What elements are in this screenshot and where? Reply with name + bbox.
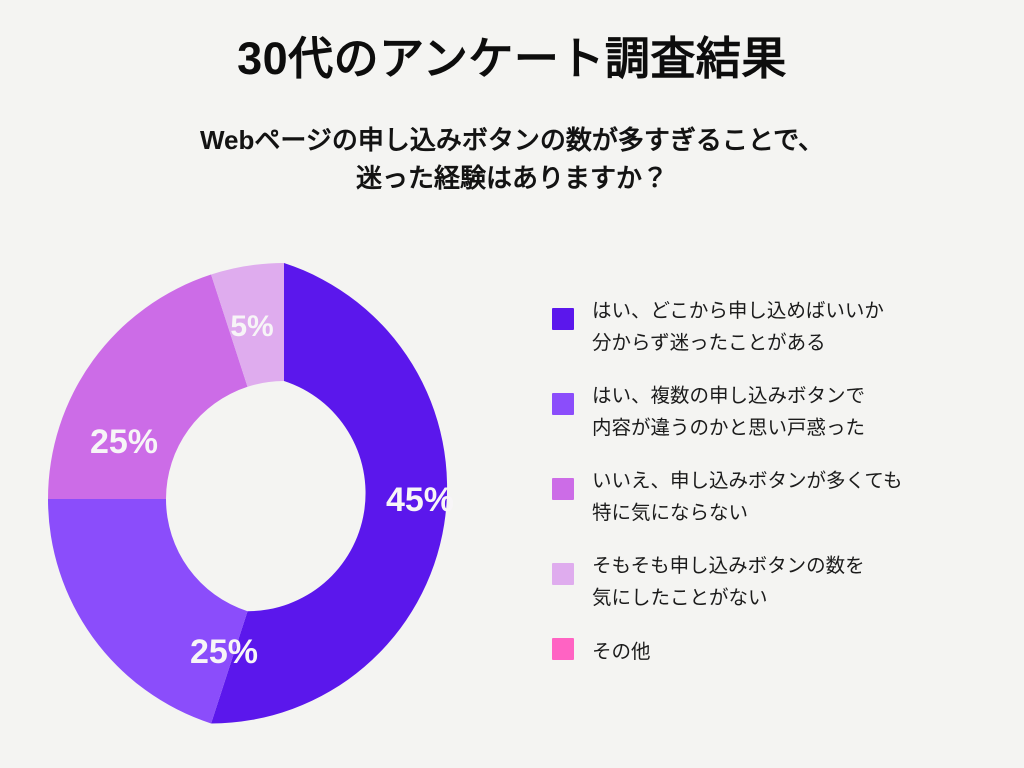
legend-item-3[interactable]: いいえ、申し込みボタンが多くても 特に気にならない bbox=[552, 466, 982, 529]
legend-label-1: はい、どこから申し込めばいいか 分からず迷ったことがある bbox=[592, 296, 884, 359]
legend-item-5[interactable]: その他 bbox=[552, 637, 982, 669]
subtitle-line-1: Webページの申し込みボタンの数が多すぎることで、 bbox=[0, 122, 1024, 160]
legend-item-4[interactable]: そもそも申し込みボタンの数を 気にしたことがない bbox=[552, 551, 982, 614]
chart-legend: はい、どこから申し込めばいいか 分からず迷ったことがある はい、複数の申し込みボ… bbox=[552, 296, 982, 668]
legend-label-3: いいえ、申し込みボタンが多くても 特に気にならない bbox=[592, 466, 902, 529]
legend-item-2[interactable]: はい、複数の申し込みボタンで 内容が違うのかと思い戸惑った bbox=[552, 381, 982, 444]
donut-slice-2[interactable] bbox=[48, 499, 248, 723]
donut-slice-3[interactable] bbox=[48, 275, 248, 499]
legend-swatch-icon-3 bbox=[552, 478, 574, 500]
page-title: 30代のアンケート調査結果 bbox=[0, 34, 1024, 84]
legend-label-2: はい、複数の申し込みボタンで 内容が違うのかと思い戸惑った bbox=[592, 381, 865, 444]
legend-label-5: その他 bbox=[592, 637, 651, 669]
legend-label-4: そもそも申し込みボタンの数を 気にしたことがない bbox=[592, 551, 865, 614]
donut-chart: 45% 25% 25% 5% bbox=[48, 263, 520, 735]
legend-swatch-icon-2 bbox=[552, 393, 574, 415]
legend-swatch-icon-4 bbox=[552, 563, 574, 585]
subtitle-line-2: 迷った経験はありますか？ bbox=[0, 160, 1024, 198]
donut-slice-4-label: 5% bbox=[230, 310, 273, 343]
page-subtitle: Webページの申し込みボタンの数が多すぎることで、 迷った経験はありますか？ bbox=[0, 122, 1024, 197]
legend-item-1[interactable]: はい、どこから申し込めばいいか 分からず迷ったことがある bbox=[552, 296, 982, 359]
slide-canvas: 30代のアンケート調査結果 Webページの申し込みボタンの数が多すぎることで、 … bbox=[0, 0, 1024, 768]
legend-swatch-icon-5 bbox=[552, 638, 574, 660]
legend-swatch-icon-1 bbox=[552, 308, 574, 330]
donut-chart-svg: 45% 25% 25% 5% bbox=[48, 263, 520, 735]
donut-slice-2-label: 25% bbox=[190, 633, 258, 671]
donut-slice-1-label: 45% bbox=[386, 481, 454, 519]
donut-slice-3-label: 25% bbox=[90, 423, 158, 461]
